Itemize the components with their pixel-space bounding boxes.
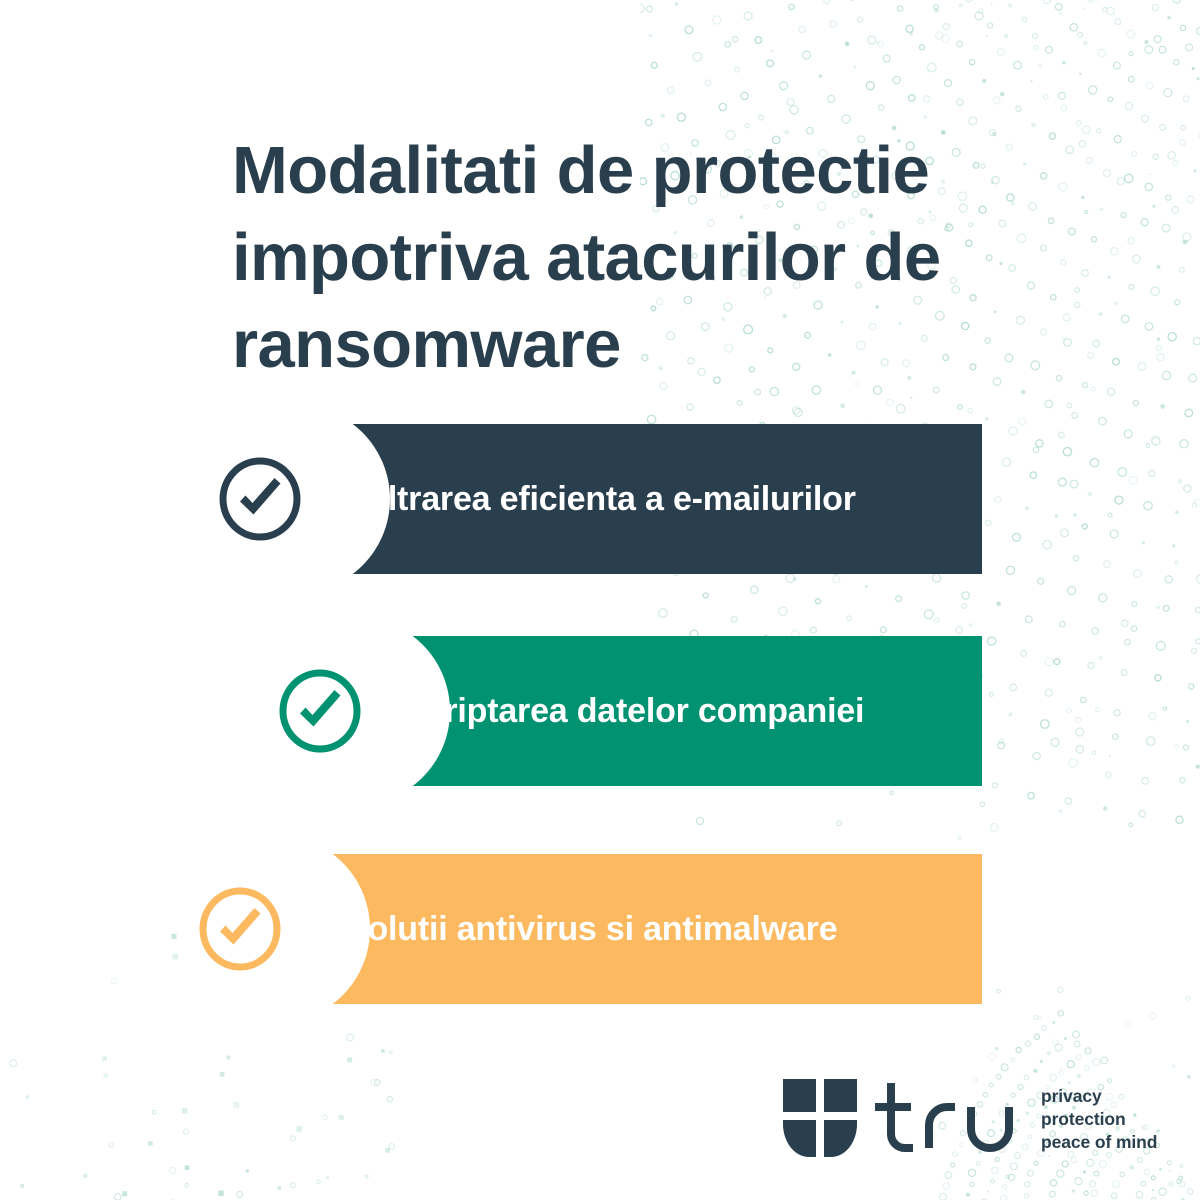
protection-item-3: Solutii antivirus si antimalware	[250, 854, 982, 1004]
card-label: Criptarea datelor companiei	[420, 692, 864, 731]
tagline-line-1: privacy	[1041, 1085, 1157, 1108]
card-label: Filtrarea eficienta a e-mailurilor	[358, 480, 856, 519]
tagline-line-2: protection	[1041, 1108, 1157, 1131]
tagline-line-3: peace of mind	[1041, 1131, 1157, 1154]
brand-logo: privacy protection peace of mind	[783, 1079, 1157, 1159]
shield-quadrant-icon	[783, 1079, 859, 1157]
logo-wordmark-tru	[871, 1079, 1023, 1157]
logo-tagline: privacy protection peace of mind	[1041, 1079, 1157, 1153]
check-circle-icon	[278, 669, 362, 753]
check-circle-icon	[218, 457, 302, 541]
protection-item-2: Criptarea datelor companiei	[330, 636, 982, 786]
check-circle-icon	[198, 887, 282, 971]
protection-item-1: Filtrarea eficienta a e-mailurilor	[270, 424, 982, 574]
infographic-canvas: Modalitati de protectie impotriva atacur…	[0, 0, 1200, 1200]
page-title: Modalitati de protectie impotriva atacur…	[232, 127, 1072, 388]
card-label: Solutii antivirus si antimalware	[345, 910, 837, 949]
